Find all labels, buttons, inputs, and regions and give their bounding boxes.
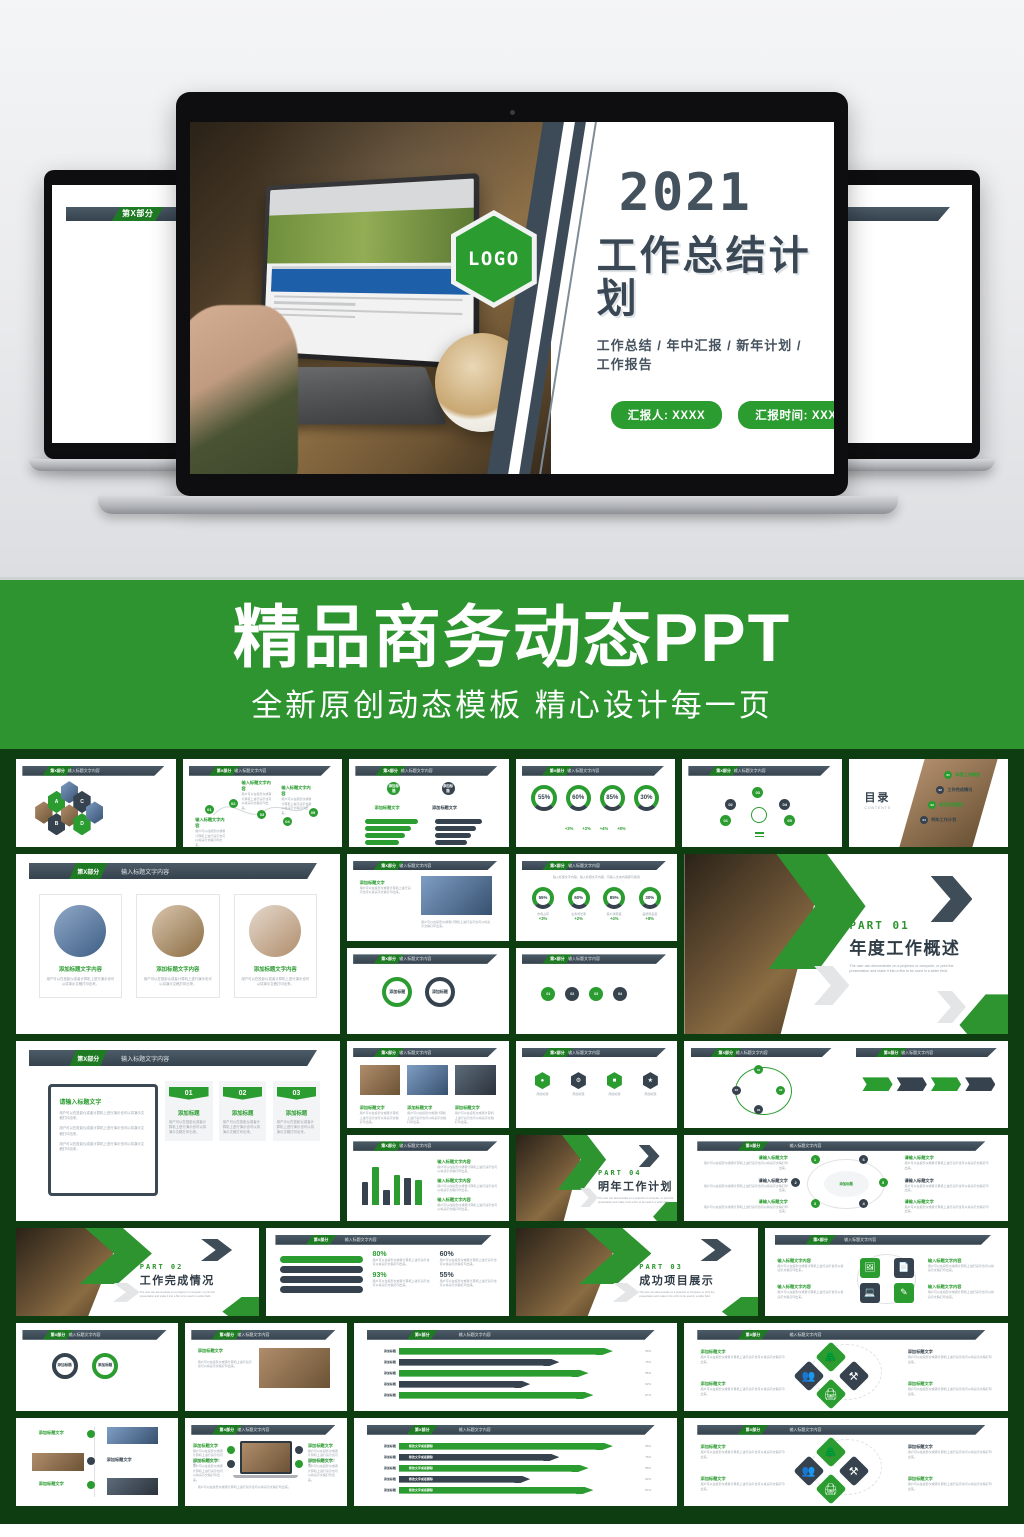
thumb-diamond-four-2[interactable]: 第X部分 输入标题文字内容 🌲 👥 ⚒ 🖨 添加标题文字用户可以在投影仪或者计算… [684,1418,1008,1506]
step-badge: 02 [223,1087,263,1100]
slide-photo [259,1348,330,1388]
part-cover: PART 01 年度工作概述 The user can demonstrate … [684,854,1008,1034]
section-title: 输入标题文字内容 [68,766,100,776]
side-caption: 输入标题文字内容用户可以在投影仪或者计算机上进行演示也可以将演示文稿打印出来。 [928,1284,996,1299]
bar-item [365,840,426,845]
step-panel[interactable]: 03 添加标题 用户可以在投影仪或者计算机上进行演示也可以将演示文稿打印出来。 [273,1081,321,1141]
thumb-hexagon-collage[interactable]: 第X部分 输入标题文字内容 A B C D [16,759,176,847]
thumb-contents[interactable]: 目录 CONTENTS 01 年度工作概述 02 工作完成情况 03 成功项目展… [849,759,1009,847]
part-text: PART 03 成功项目展示 The user can demonstrate … [639,1263,717,1299]
thumb-photo-trio[interactable]: 第X部分 输入标题文字内容 添加标题文字用户可以在投影仪或者计算机上进行演示也可… [347,1041,509,1128]
section-title: 输入标题文字内容 [121,1050,169,1066]
kpi-item: 55%用户可以在投影仪或者计算机上进行演示也可以将演示文稿打印出来。 [440,1272,499,1288]
feature-node [227,1460,235,1468]
side-caption: 请输入标题文字用户可以在投影仪或者计算机上进行演示也可以将演示文稿打印出来。 [704,1155,788,1170]
progress-row: 添加标题 修改文字或者删除 62% [370,1476,661,1483]
side-caption: 请输入标题文字用户可以在投影仪或者计算机上进行演示也可以将演示文稿打印出来。 [904,1155,988,1170]
photo-text-line [274,302,355,306]
chevron-light-icon [613,1283,640,1302]
promo-banner: 精品商务动态PPT 全新原创动态模板 精心设计每一页 [0,577,1024,749]
side-caption: 请输入标题文字用户可以在投影仪或者计算机上进行演示也可以将演示文稿打印出来。 [904,1199,988,1214]
thumb-hexcircle[interactable]: 第X部分 输入标题文字内容 01 02 03 04 [684,1041,842,1128]
grid-col: 第X部分 输入标题文字内容 添加标题文字 用户可以在投影仪或者计算机上进行演示也… [347,854,509,1034]
step-badge: 01 [169,1087,209,1100]
slide-header-bar: 第X部分 输入标题文字内容 [522,1048,666,1058]
thumb-part-02[interactable]: PART 02 工作完成情况 The user can demonstrate … [16,1228,259,1316]
image-icon: 🖼 [860,1258,880,1278]
thumb-part-03[interactable]: PART 03 成功项目展示 The user can demonstrate … [516,1228,759,1316]
section-title: 输入标题文字内容 [399,1048,431,1058]
node-04: 04 [779,799,790,810]
section-title: 输入标题文字内容 [237,1330,269,1340]
document-icon: 📄 [894,1258,914,1278]
thumb-circular-six[interactable]: 第X部分 输入标题文字内容 添加标题 1 6 2 5 3 4 请输入标题文字用户… [684,1135,1008,1222]
laptop-frame [240,1441,292,1474]
ring-pair: 添加标题 添加标题 [52,1353,143,1379]
year-label: 2021 [619,167,816,219]
feature-node [227,1446,235,1454]
card-image [152,905,204,957]
slide-header-bar: 第X部分 输入标题文字内容 [697,1425,985,1435]
chevron-dark-icon [201,1239,233,1262]
step-node: 04 [283,817,292,826]
progress-row: 添加标题 修改文字或者删除 95% [370,1443,661,1450]
progress-row: 添加标题 75% [370,1359,661,1366]
chevron-light-icon [113,1283,140,1302]
thumb-wave-steps[interactable]: 第X部分 输入标题文字内容 01 02 03 04 [516,948,678,1035]
corner-accent [722,1297,758,1316]
timeline-caption: 输入标题文字内容 用户可以在投影仪或者计算机上进行演示也可以将演示文稿打印出来。 [195,817,227,847]
part-number: PART 04 [598,1169,676,1177]
section-title: 输入标题文字内容 [734,766,766,776]
part-number: PART 02 [140,1263,218,1271]
node-1: 1 [811,1155,820,1164]
side-caption: 添加标题文字用户可以在投影仪或者计算机上进行演示也可以将演示文稿打印出来。 [908,1476,992,1491]
side-caption: 添加标题文字用户可以在投影仪或者计算机上进行演示也可以将演示文稿打印出来。 [701,1349,785,1364]
caption-row: 添加标题文字用户可以在投影仪或者计算机上进行演示也可以将演示文稿打印出来。 添加… [360,1105,496,1125]
title-slide-text-pane: 2021 工作总结计划 工作总结 / 年中汇报 / 新年计划 / 工作报告 汇报… [551,122,834,474]
notebook: 请输入标题文字 用户可以在投影仪或者计算机上进行演示也可以将演示文稿打印出来。 … [48,1084,158,1196]
hero-mockup-area: 第X部分 第X部分 [0,0,1024,577]
donut-row: 55% 60% 85% 30% [531,785,659,811]
corner-accent [222,1297,258,1316]
ribbon-step [862,1077,892,1091]
thumb-arrow-progress-2[interactable]: 第X部分 输入标题文字内容 添加标题 修改文字或者删除 95% 添加标题 [354,1418,678,1506]
part-cover: PART 03 成功项目展示 The user can demonstrate … [516,1228,759,1316]
side-caption: 请输入标题文字用户可以在投影仪或者计算机上进行演示也可以将演示文稿打印出来。 [704,1178,788,1193]
side-caption: 添加标题文字用户可以在投影仪或者计算机上进行演示也可以将演示文稿打印出来。 [908,1349,992,1364]
chevron-dark-icon [700,1239,732,1262]
card-image [249,905,301,957]
slide-header-bar: 第X部分 输入标题文字内容 [522,954,666,964]
thumb-part-04[interactable]: PART 04 明年工作计划 The user can demonstrate … [516,1135,678,1222]
bar [372,1167,378,1206]
slide-header-bar: 第X部分 输入标题文字内容 [522,861,666,871]
ribbon-row [862,1077,995,1091]
timeline-caption: 输入标题文字内容 用户可以在投影仪或者计算机上进行演示也可以将演示文稿打印出来。 [281,785,313,815]
slide-header-bar: 第X部分 输入标题文字内容 [697,1141,985,1151]
ribbon-step [965,1077,995,1091]
donut-chart: 85% [603,887,625,909]
slide-header-bar: 第X部分 输入标题文字内容 [191,1425,335,1435]
timeline-node [87,1457,95,1465]
bar-item [280,1276,363,1283]
thumb-vertical-timeline[interactable]: 添加标题文字 添加标题文字 添加标题文字 [16,1418,178,1506]
slide-header-bar: 第X部分 输入标题文字内容 [697,1330,985,1340]
section-tag: 第X部分 [738,1330,769,1340]
progress-row: 添加标题 95% [370,1348,661,1355]
laptop-photo [242,1443,290,1472]
date-pill: 汇报时间: XXXX [738,401,834,429]
section-title: 输入标题文字内容 [69,1330,101,1340]
donut-chart: 60% [568,887,590,909]
part-title: 工作完成情况 [140,1272,218,1288]
orbit-center: 添加标题 [824,1171,869,1197]
caption: 添加标题文字用户可以在投影仪或者计算机上进行演示也可以将演示文稿打印出来。 [407,1105,448,1125]
kpi-item: 85% 客户满意度 +4% [603,887,625,922]
section-title: 输入标题文字内容 [568,954,600,964]
slide-photo [407,1065,448,1095]
photo-hand [190,305,298,474]
step-panel[interactable]: 01 添加标题 用户可以在投影仪或者计算机上进行演示也可以将演示文稿打印出来。 [165,1081,213,1141]
grid-col: 第X部分 输入标题文字内容 输入标题文字内容，输入标题文字内容，可输入文本内容即… [516,854,678,1034]
section-tag: 第X部分 [738,1425,769,1435]
thumb-donut-row[interactable]: 第X部分 输入标题文字内容 55% 60% 85% 30% +3% +2% +4… [516,759,676,847]
grid-col: 第X部分 输入标题文字内容 ● 添加标题 ⚙ 添加标题 ■ 添加标题 [516,1041,678,1221]
donut-chart: 30% [639,887,661,909]
hexagon-cluster: A B C D [35,789,102,837]
slide-photo [107,1427,159,1445]
thumb-curve-timeline[interactable]: 第X部分 输入标题文字内容 01 02 03 04 05 输入标题文字内容 用户… [183,759,343,847]
donut-chart: 60% [566,785,591,811]
progress-row: 添加标题 87% [370,1392,661,1399]
kpi-item: 30% 品牌知名度 +8% [639,887,661,922]
hex-icon-item: ★ 添加标题 [643,1072,658,1097]
corner-accent [959,994,1008,1034]
grid-row: 第X部分 输入标题文字内容 添加标题文字内容 用户可以在投影仪或者计算机上进行演… [16,854,1008,1034]
bar-item [280,1256,363,1263]
monitor-icon: 💻 [860,1283,880,1303]
ring-chart: 添加标题 [425,977,455,1007]
side-caption: 添加标题文字用户可以在投影仪或者计算机上进行演示也可以将演示文稿打印出来。 [701,1381,785,1396]
node: 02 [732,1086,741,1095]
banner-headline: 精品商务动态PPT [233,604,791,672]
thumb-arrow-progress[interactable]: 第X部分 输入标题文字内容 添加标题 95% 添加标题 75% [354,1323,678,1411]
card-image [54,905,106,957]
photo-hero-image [267,208,473,264]
bar-item [435,826,496,831]
thumb-three-cards[interactable]: 第X部分 输入标题文字内容 添加标题文字内容 用户可以在投影仪或者计算机上进行演… [16,854,340,1034]
thumb-square-icons[interactable]: 第X部分 输入标题文字内容 🖼 📄 💻 ✎ 输入标题文字内容用户可以在投影仪或者… [765,1228,1008,1316]
webcam-icon [510,110,515,115]
photo-text-line [274,314,355,319]
bar-item [365,826,426,831]
hex-icon-item: ⚙ 添加标题 [571,1072,586,1097]
kpi-item: 80%用户可以在投影仪或者计算机上进行演示也可以将演示文稿打印出来。 [373,1251,432,1267]
feature-card[interactable]: 添加标题文字内容 用户可以在投影仪或者计算机上进行演示也可以将演示文稿打印出来。 [136,894,220,998]
side-caption: 添加标题文字用户可以在投影仪或者计算机上进行演示也可以将演示文稿打印出来。 [701,1476,785,1491]
laptop-mockup-main: LOGO 2021 工作总结计划 工作总结 / 年中汇报 / 新年计划 / 工作… [176,92,848,514]
slide-header-bar: 第X部分 输入标题文字内容 [775,1235,991,1245]
section-title: 输入标题文字内容 [459,1330,491,1340]
thumb-ribbon-steps[interactable]: 第X部分 输入标题文字内容 [850,1041,1008,1128]
bar [362,1182,368,1205]
side-caption: 输入标题文字内容用户可以在投影仪或者计算机上进行演示也可以将演示文稿打印出来。 [777,1258,845,1273]
bar-item [280,1286,363,1293]
slide-header-bar: 第X部分 输入标题文字内容 [367,1330,655,1340]
section-title: 输入标题文字内容 [789,1425,821,1435]
part-number: PART 01 [849,919,969,932]
section-title: 输入标题文字内容 [399,1141,431,1151]
grid-col: 第X部分 输入标题文字内容 01 02 03 04 第X部分 输入标题文字内容 [684,1041,1008,1221]
slide-photo [421,876,492,914]
thumb-two-rings[interactable]: 第X部分 输入标题文字内容 添加标题 添加标题 [347,948,509,1035]
slide-photo [360,1065,401,1095]
contents-heading: 目录 CONTENTS [864,789,891,810]
bar-list [280,1253,363,1296]
bar [404,1178,410,1205]
part-cover: PART 04 明年工作计划 The user can demonstrate … [516,1135,678,1222]
card-row: 添加标题文字内容 用户可以在投影仪或者计算机上进行演示也可以将演示文稿打印出来。… [39,894,317,998]
side-caption: 添加标题文字用户可以在投影仪或者计算机上进行演示也可以将演示文稿打印出来。 [908,1381,992,1396]
timeline-caption: 输入标题文字内容 用户可以在投影仪或者计算机上进行演示也可以将演示文稿打印出来。 [242,780,274,810]
side-caption: 输入标题文字内容用户可以在投影仪或者计算机上进行演示也可以将演示文稿打印出来。 [928,1258,996,1273]
photo-row [360,1065,496,1095]
arrow-progress-list: 添加标题 95% 添加标题 75% 添加标题 [370,1348,661,1399]
feature-card[interactable]: 添加标题文字内容 用户可以在投影仪或者计算机上进行演示也可以将演示文稿打印出来。 [39,894,123,998]
title-slide: LOGO 2021 工作总结计划 工作总结 / 年中汇报 / 新年计划 / 工作… [190,122,834,474]
thumb-part-01[interactable]: PART 01 年度工作概述 The user can demonstrate … [684,854,1008,1034]
node: 04 [754,1105,763,1114]
photo-text-line [274,296,462,302]
hex-icon-item: ● 添加标题 [535,1072,550,1097]
photo-laptop-screen [264,179,474,364]
side-caption: 添加标题文字用户可以在投影仪或者计算机上进行演示也可以将演示文稿打印出来。 [308,1458,339,1482]
grid-col: 第X部分 输入标题文字内容 添加标题文字用户可以在投影仪或者计算机上进行演示也可… [347,1041,509,1221]
thumb-diamond-four[interactable]: 第X部分 输入标题文字内容 🌲 👥 ⚒ 🖨 添加标题文字用户可以在投影仪或者计算… [684,1323,1008,1411]
grid-row: 添加标题文字 添加标题文字 添加标题文字 第X部分 输入标题文字内容 添加标题文… [16,1418,1008,1506]
ring-chart: 添加标题 [382,977,412,1007]
grid-row: 第X部分 输入标题文字内容 请输入标题文字 用户可以在投影仪或者计算机上进行演示… [16,1041,1008,1221]
section-title: 输入标题文字内容 [568,861,600,871]
part-title: 年度工作概述 [849,934,969,959]
node-03: 03 [752,787,763,798]
grid-row: PART 02 工作完成情况 The user can demonstrate … [16,1228,1008,1316]
thumb-hex-icons[interactable]: 第X部分 输入标题文字内容 ● 添加标题 ⚙ 添加标题 ■ 添加标题 [516,1041,678,1128]
thumb-pair: 第X部分 输入标题文字内容 01 02 03 04 第X部分 输入标题文字内容 [684,1041,1008,1128]
step-panels: 01 添加标题 用户可以在投影仪或者计算机上进行演示也可以将演示文稿打印出来。 … [165,1081,320,1141]
chevron-dark-icon [639,1145,660,1167]
bar-chart [360,1160,431,1205]
slide-header-bar: 第X部分 输入标题文字内容 [691,1048,832,1058]
slide-header-bar: 第X部分 输入标题文字内容 [856,1048,997,1058]
bar-item [435,819,496,824]
left-bar-list [365,817,426,847]
node-2: 2 [791,1178,800,1187]
text-block: 添加标题文字 用户可以在投影仪或者计算机上进行演示也可以将演示文稿打印出来。 [360,880,413,895]
section-title: 输入标题文字内容 [234,766,266,776]
part-text: PART 01 年度工作概述 The user can demonstrate … [849,919,969,975]
laptop-base [233,1475,298,1478]
thumb-kpi-checks[interactable]: 第X部分 输入标题文字内容 80%用户可以在投影仪或者计算机上进行演示也可以将演… [266,1228,509,1316]
grid: 第X部分 输入标题文字内容 A B C D 第X部分 输入标题文字内容 [16,759,1008,1506]
meta-pill-row: 汇报人: XXXX 汇报时间: XXXX [611,401,816,429]
feature-card[interactable]: 添加标题文字内容 用户可以在投影仪或者计算机上进行演示也可以将演示文稿打印出来。 [234,894,318,998]
section-tag: 第X部分 [69,1050,107,1066]
bar [394,1175,400,1206]
feature-node [295,1460,303,1468]
thumb-column-chart[interactable]: 第X部分 输入标题文字内容 输入标题文字内容 用户可以在投影仪或者计算机上进行演… [347,1135,509,1222]
bar-item [435,833,496,838]
slide-header-bar: 第X部分 输入标题文字内容 [353,954,497,964]
ring-chart: 添加标题 [52,1353,78,1379]
kpi-grid: 80%用户可以在投影仪或者计算机上进行演示也可以将演示文稿打印出来。 60%用户… [373,1251,499,1288]
star-icon: ★ [643,1072,658,1089]
ribbon-step [931,1077,961,1091]
part-cover: PART 02 工作完成情况 The user can demonstrate … [16,1228,259,1316]
thumb-photo-list[interactable]: 第X部分 输入标题文字内容 添加标题文字 用户可以在投影仪或者计算机上进行演示也… [347,854,509,941]
chevron-light-icon [814,966,850,1006]
kpi-item: 60% 业务增长率 +2% [568,887,590,922]
chart-legend: 输入标题文字内容 用户可以在投影仪或者计算机上进行演示也可以将演示文稿打印出来。… [437,1159,498,1212]
node-05: 05 [784,815,795,826]
contents-item[interactable]: 01 年度工作概述 [944,771,980,779]
hex-icon-row: ● 添加标题 ⚙ 添加标题 ■ 添加标题 ★ 添加标题 [535,1072,658,1097]
section-title: 输入标题文字内容 [399,954,431,964]
chevron-light-icon [937,991,966,1023]
slide-header-bar: 第X部分 输入标题文字内容 [22,766,164,776]
page-title: 工作总结计划 [597,235,816,321]
progress-row: 添加标题 修改文字或者删除 87% [370,1487,661,1494]
section-tag: 第X部分 [738,1141,769,1151]
side-caption: 请输入标题文字用户可以在投影仪或者计算机上进行演示也可以将演示文稿打印出来。 [704,1199,788,1214]
bulb-base [755,836,764,838]
ring-chart: 添加标题 [92,1353,118,1379]
section-title: 输入标题文字内容 [789,1141,821,1151]
section-title: 输入标题文字内容 [789,1330,821,1340]
badge-left: 添加标题 [387,782,400,795]
part-title: 明年工作计划 [598,1178,676,1194]
donut-delta-row: +3% +2% +4% +8% [531,826,659,831]
section-title: 输入标题文字内容 [121,863,169,879]
step-circle-row: 01 02 03 04 [541,987,651,1001]
thumb-photo-text[interactable]: 第X部分 输入标题文字内容 添加标题文字 用户可以在投影仪或者计算机上进行演示也… [185,1323,347,1411]
banner-subhead: 全新原创动态模板 精心设计每一页 [251,680,773,725]
caption: 添加标题文字用户可以在投影仪或者计算机上进行演示也可以将演示文稿打印出来。 [360,1105,401,1125]
contents-item[interactable]: 04 明年工作计划 [920,816,980,824]
slide-header-bar: 第X部分 输入标题文字内容 [29,1050,317,1066]
section-title: 输入标题文字内容 [401,766,433,776]
slide-thumbnail-grid: 第X部分 输入标题文字内容 A B C D 第X部分 输入标题文字内容 [0,749,1024,1524]
slide-header-bar: 第X部分 输入标题文字内容 [522,766,664,776]
side-caption: 输入标题文字内容用户可以在投影仪或者计算机上进行演示也可以将演示文稿打印出来。 [777,1284,845,1299]
caption: 添加标题文字用户可以在投影仪或者计算机上进行演示也可以将演示文稿打印出来。 [455,1105,496,1125]
node-5: 5 [879,1178,888,1187]
part-number: PART 03 [639,1263,717,1271]
step-node: 01 [205,805,214,814]
part-text: PART 04 明年工作计划 The user can demonstrate … [598,1169,676,1205]
slide-photo [455,1065,496,1095]
side-caption: 添加标题文字用户可以在投影仪或者计算机上进行演示也可以将演示文稿打印出来。 [701,1444,785,1459]
thumb-circle-pair[interactable]: 第X部分 输入标题文字内容 添加标题 添加标题 [16,1323,178,1411]
text-block: 用户可以在投影仪或者计算机上进行演示也可以将演示文稿打印出来。 [421,920,492,929]
section-title: 输入标题文字内容 [567,766,599,776]
step-panel[interactable]: 02 添加标题 用户可以在投影仪或者计算机上进行演示也可以将演示文稿打印出来。 [219,1081,267,1141]
section-title: 输入标题文字内容 [399,861,431,871]
arrow-progress-list: 添加标题 修改文字或者删除 95% 添加标题 修改文字或者删除 [370,1443,661,1494]
feature-node [295,1446,303,1454]
side-caption: 请输入标题文字用户可以在投影仪或者计算机上进行演示也可以将演示文稿打印出来。 [904,1178,988,1193]
slide-header-bar: 第X部分 输入标题文字内容 [189,766,331,776]
section-title: 输入标题文字内容 [568,1048,600,1058]
section-title: 输入标题文字内容 [736,1048,768,1058]
thumb-compare-bars[interactable]: 第X部分 输入标题文字内容 添加标题 添加标题 添加标题文字 添加标题文字 [349,759,509,847]
donut-chart: 85% [600,785,625,811]
bar-item [365,819,426,824]
kpi-item: 60%用户可以在投影仪或者计算机上进行演示也可以将演示文稿打印出来。 [440,1251,499,1267]
bulb-icon [751,807,767,823]
thumb-notebook-steps[interactable]: 第X部分 输入标题文字内容 请输入标题文字 用户可以在投影仪或者计算机上进行演示… [16,1041,340,1221]
donut-chart: 55% [532,887,554,909]
thumb-donut-kpi[interactable]: 第X部分 输入标题文字内容 输入标题文字内容，输入标题文字内容，可输入文本内容即… [516,854,678,941]
part-desc: The user can demonstrate on a projector … [639,1291,717,1299]
slide-header-bar: 第X部分 输入标题文字内容 [275,1235,491,1245]
section-tag: 第X部分 [306,1235,337,1245]
node-01: 01 [720,815,731,826]
laptop-shell: LOGO 2021 工作总结计划 工作总结 / 年中汇报 / 新年计划 / 工作… [176,92,848,496]
progress-row: 添加标题 修改文字或者删除 75% [370,1454,661,1461]
section-title: 输入标题文字内容 [345,1235,377,1245]
slide-header-bar: 第X部分 输入标题文字内容 [353,1048,497,1058]
slide-header-bar: 第X部分 输入标题文字内容 [29,863,317,879]
node-4: 4 [859,1199,868,1208]
side-caption: 添加标题文字用户可以在投影仪或者计算机上进行演示也可以将演示文稿打印出来。 [908,1444,992,1459]
ring-pair: 添加标题 添加标题 [382,977,473,1007]
slide-header-bar: 第X部分 输入标题文字内容 [353,1141,497,1151]
edit-icon: ✎ [894,1283,914,1303]
kpi-item: 93%用户可以在投影仪或者计算机上进行演示也可以将演示文稿打印出来。 [373,1272,432,1288]
donut-chart: 30% [634,785,659,811]
thumb-bulb-diagram[interactable]: 第X部分 输入标题文字内容 03 02 04 01 05 [682,759,842,847]
slide-header-bar: 第X部分 输入标题文字内容 [688,766,830,776]
grid-row: 第X部分 输入标题文字内容 A B C D 第X部分 输入标题文字内容 [16,759,1008,847]
chevron-dark-icon [930,876,972,923]
bar [415,1180,421,1206]
logo-text: LOGO [456,216,532,303]
bar [383,1190,389,1205]
section-tag: 第X部分 [112,207,163,221]
part-desc: The user can demonstrate on a projector … [140,1291,218,1299]
right-bar-list [435,817,496,847]
bulb-base [755,832,764,834]
ribbon-step [897,1077,927,1091]
part-text: PART 02 工作完成情况 The user can demonstrate … [140,1263,218,1299]
slide-photo [32,1453,84,1471]
chart-icon: ■ [607,1072,622,1089]
contents-item[interactable]: 03 成功项目展示 [928,801,980,809]
laptop-base [98,496,898,514]
slide-header-bar: 第X部分 输入标题文字内容 [367,1425,655,1435]
slide-header-bar: 第X部分 输入标题文字内容 [22,1330,166,1340]
progress-row: 添加标题 62% [370,1381,661,1388]
part-desc: The user can demonstrate on a projector … [849,964,969,975]
contents-item[interactable]: 02 工作完成情况 [936,786,980,794]
laptop-screen: LOGO 2021 工作总结计划 工作总结 / 年中汇报 / 新年计划 / 工作… [190,122,834,474]
part-title: 成功项目展示 [639,1272,717,1288]
section-title: 输入标题文字内容 [844,1235,876,1245]
bar-item [280,1266,363,1273]
thumb-laptop-features[interactable]: 第X部分 输入标题文字内容 添加标题文字用户可以在投影仪或者计算机上进行演示也可… [185,1418,347,1506]
